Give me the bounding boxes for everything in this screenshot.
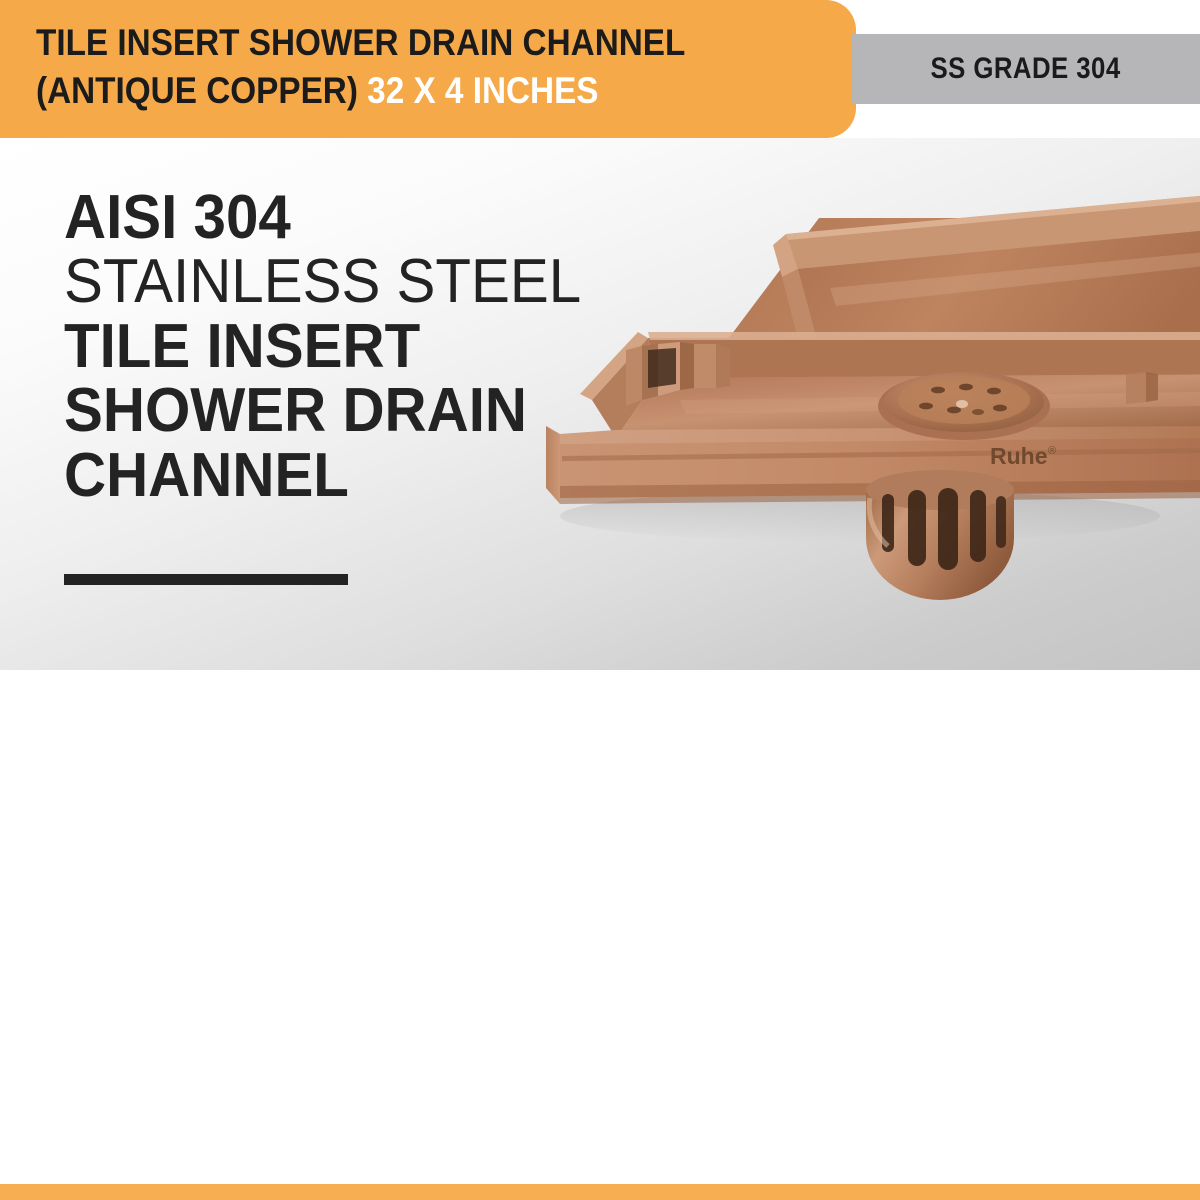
- hero-title-line-5: CHANNEL: [64, 444, 553, 508]
- infographic-page: SS GRADE 304 TILE INSERT SHOWER DRAIN CH…: [0, 0, 1200, 1200]
- hero-title-underline: [64, 574, 348, 585]
- hero-section: AISI 304 STAINLESS STEEL TILE INSERT SHO…: [0, 138, 1200, 670]
- grade-badge-label: SS GRADE 304: [931, 52, 1121, 86]
- header-title-block: TILE INSERT SHOWER DRAIN CHANNEL (ANTIQU…: [36, 22, 836, 113]
- hero-title-line-1: AISI 304: [64, 186, 553, 250]
- hero-title: AISI 304 STAINLESS STEEL TILE INSERT SHO…: [64, 186, 584, 508]
- header-title-line-2-main: (ANTIQUE COPPER): [36, 70, 358, 111]
- product-brand-mark: Ruhe: [990, 443, 1048, 469]
- header: SS GRADE 304 TILE INSERT SHOWER DRAIN CH…: [0, 0, 1200, 138]
- svg-text:®: ®: [1048, 445, 1056, 457]
- grade-badge: SS GRADE 304: [852, 34, 1200, 104]
- header-title-line-1: TILE INSERT SHOWER DRAIN CHANNEL: [36, 22, 756, 65]
- product-image: Ruhe ®: [530, 138, 1200, 670]
- header-title-line-2: (ANTIQUE COPPER) 32 X 4 INCHES: [36, 70, 756, 113]
- hero-title-line-3: TILE INSERT: [64, 315, 553, 379]
- bottom-accent-bar: [0, 1184, 1200, 1200]
- features-section: TYPE 304 PREMIUM STAINLESS STEEL Made fr…: [0, 670, 1200, 1200]
- header-title-dimensions: 32 X 4 INCHES: [367, 70, 598, 111]
- hero-title-line-2: STAINLESS STEEL: [64, 250, 553, 314]
- hero-title-line-4: SHOWER DRAIN: [64, 379, 553, 443]
